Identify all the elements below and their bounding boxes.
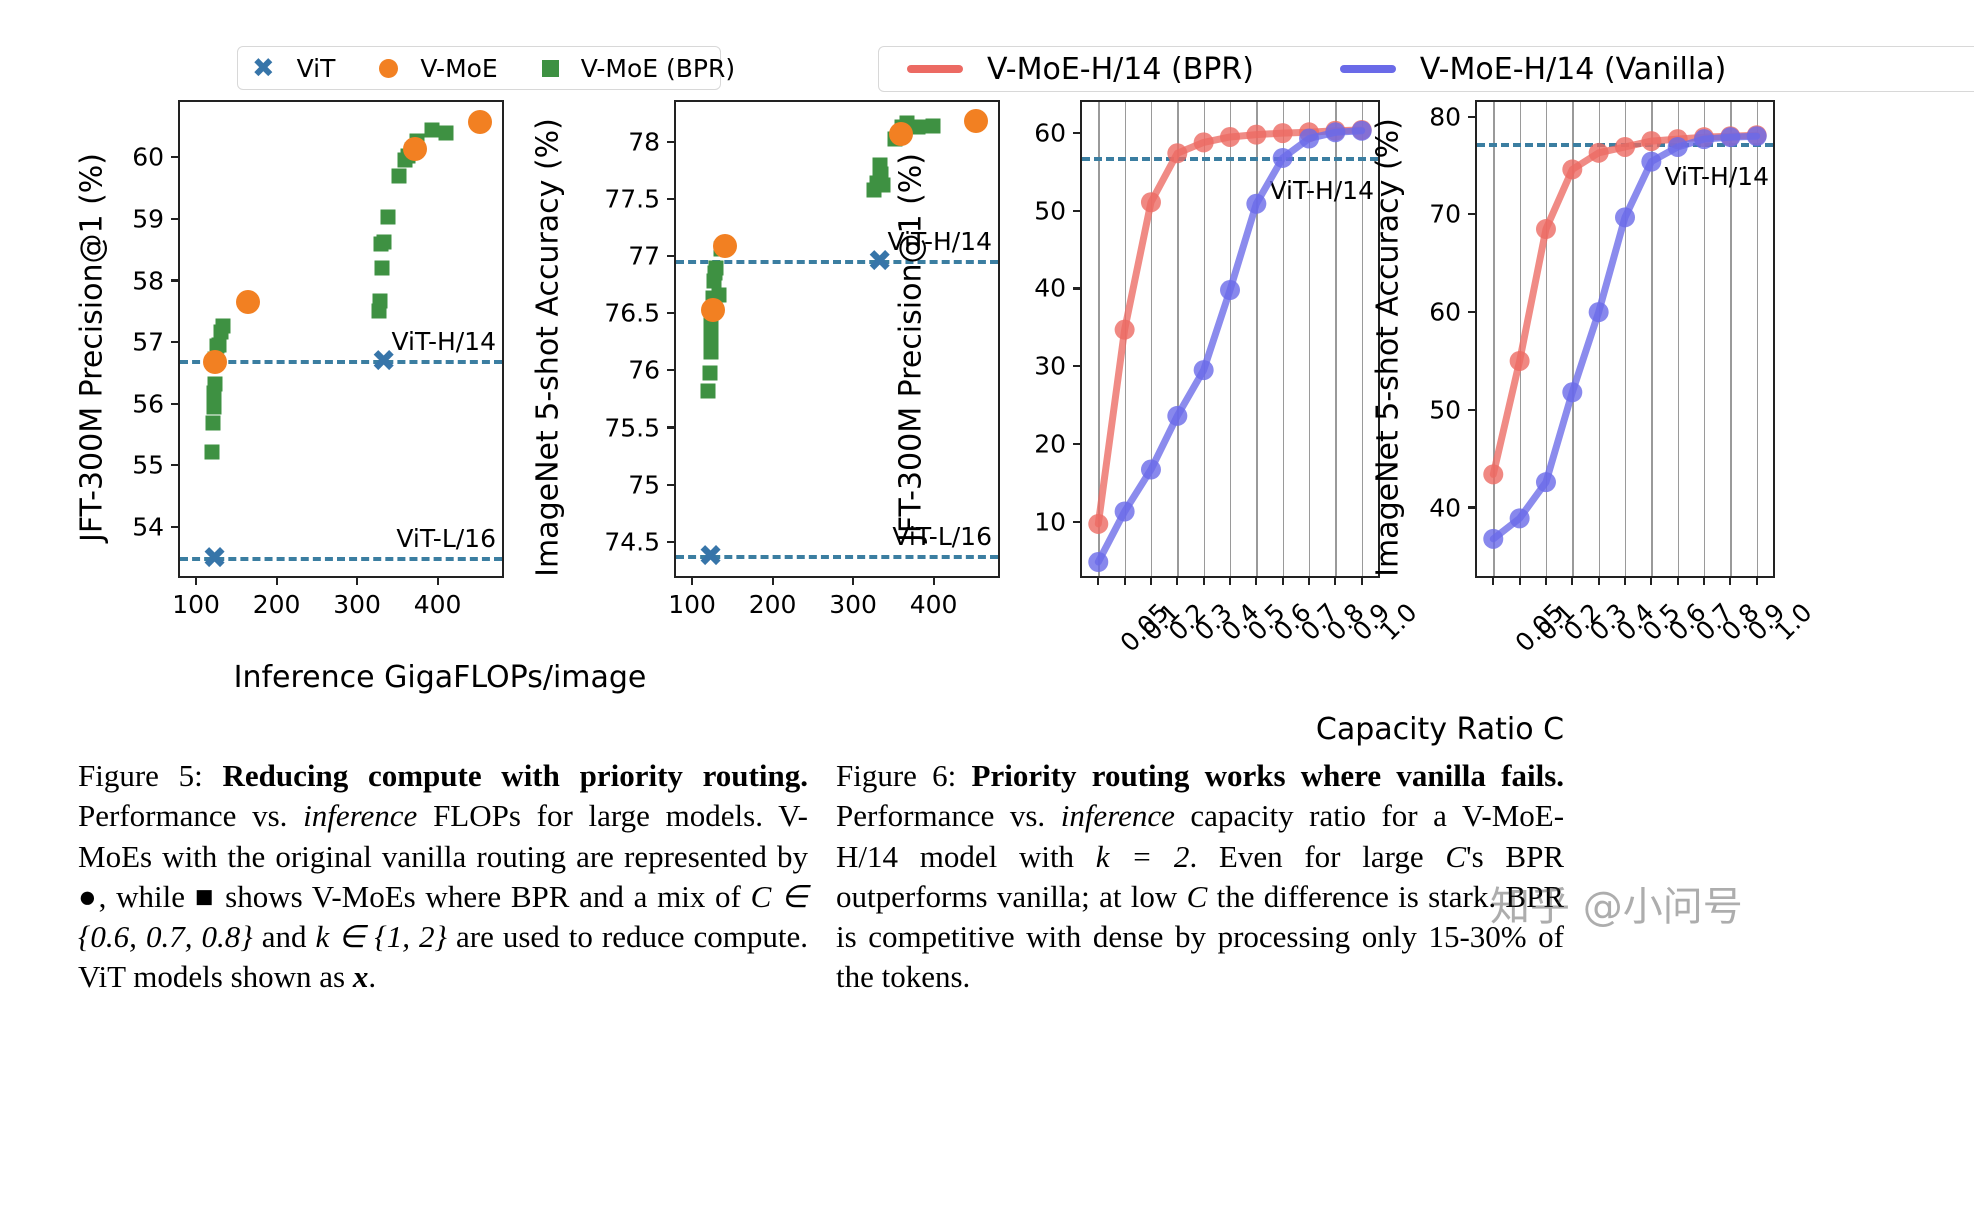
- y-tick-label: 77.5: [604, 185, 660, 214]
- y-tick-label: 50: [1429, 395, 1461, 424]
- y-tick-label: 20: [1034, 429, 1066, 458]
- x-tick-mark: [1150, 576, 1152, 585]
- y-tick-mark: [171, 156, 180, 158]
- x-marker-icon: ✖: [252, 55, 275, 82]
- threshold-label: ViT-L/16: [396, 524, 496, 553]
- y-tick-mark: [1073, 443, 1082, 445]
- figure6-left-ylabel: JFT-300M Precision@1 (%): [894, 133, 929, 563]
- figure5-caption-math3: x: [353, 959, 369, 994]
- y-tick-mark: [667, 255, 676, 257]
- circle-marker-icon: [379, 59, 398, 78]
- y-tick-mark: [1073, 287, 1082, 289]
- y-tick-label: 76.5: [604, 299, 660, 328]
- legend-label-vmoe: V-MoE: [420, 54, 497, 83]
- data-point-circle: [203, 350, 227, 374]
- figure6-caption-math2: C: [1445, 839, 1466, 874]
- y-tick-mark: [1468, 116, 1477, 118]
- y-tick-mark: [1073, 132, 1082, 134]
- y-tick-label: 40: [1429, 493, 1461, 522]
- y-tick-mark: [1073, 365, 1082, 367]
- y-tick-label: 75: [628, 470, 660, 499]
- y-tick-mark: [171, 526, 180, 528]
- data-point-square: [206, 416, 221, 431]
- x-tick-mark: [1598, 576, 1600, 585]
- figure6-right-axes: 40506070800.050.10.20.30.40.50.60.70.80.…: [1475, 100, 1775, 578]
- y-tick-mark: [1073, 521, 1082, 523]
- x-tick-mark: [1545, 576, 1547, 585]
- data-point-square: [206, 399, 221, 414]
- x-tick-label: 200: [749, 590, 797, 619]
- x-tick-mark: [1308, 576, 1310, 585]
- y-tick-mark: [667, 312, 676, 314]
- threshold-line: [180, 360, 502, 364]
- figure6-caption-math1: k = 2: [1096, 839, 1190, 874]
- x-tick-label: 100: [668, 590, 716, 619]
- figure5-legend: ✖ ViT V-MoE V-MoE (BPR): [237, 46, 721, 90]
- x-tick-mark: [1677, 576, 1679, 585]
- x-tick-label: 200: [253, 590, 301, 619]
- y-tick-label: 40: [1034, 274, 1066, 303]
- x-tick-mark: [1756, 576, 1758, 585]
- y-tick-mark: [667, 198, 676, 200]
- figure5-xlabel: Inference GigaFLOPs/image: [90, 660, 790, 695]
- y-tick-mark: [1073, 210, 1082, 212]
- y-tick-mark: [667, 369, 676, 371]
- x-tick-mark: [1229, 576, 1231, 585]
- line-chart-curves: [1477, 102, 1773, 576]
- x-tick-mark: [437, 576, 439, 585]
- data-point-circle: [701, 298, 725, 322]
- figure6-caption: Figure 6: Priority routing works where v…: [836, 756, 1564, 998]
- legend-label-vit: ViT: [297, 54, 336, 83]
- y-tick-label: 60: [132, 143, 164, 172]
- figure-page: ✖ ViT V-MoE V-MoE (BPR) JFT-300M Precisi…: [0, 0, 1974, 1218]
- x-tick-mark: [1282, 576, 1284, 585]
- y-tick-label: 80: [1429, 102, 1461, 131]
- y-tick-label: 74.5: [604, 527, 660, 556]
- square-marker-icon: [542, 60, 559, 77]
- threshold-line: [180, 557, 502, 561]
- figure5-left-ylabel: JFT-300M Precision@1 (%): [75, 138, 110, 558]
- y-tick-mark: [1468, 213, 1477, 215]
- figure5-caption: Figure 5: Reducing compute with priority…: [78, 756, 808, 998]
- data-point-square: [377, 234, 392, 249]
- x-tick-mark: [1097, 576, 1099, 585]
- legend-entry-bpr: V-MoE-H/14 (BPR): [907, 52, 1254, 87]
- data-point-circle: [713, 234, 737, 258]
- watermark: 知乎 @小问号: [1490, 874, 1743, 932]
- legend-entry-vanilla: V-MoE-H/14 (Vanilla): [1340, 52, 1726, 87]
- y-tick-label: 76: [628, 356, 660, 385]
- y-tick-label: 58: [132, 266, 164, 295]
- x-tick-label: 100: [172, 590, 220, 619]
- data-point-square: [372, 294, 387, 309]
- figure6-right-ylabel: ImageNet 5-shot Accuracy (%): [1371, 88, 1406, 608]
- x-tick-mark: [1176, 576, 1178, 585]
- y-tick-label: 77: [628, 242, 660, 271]
- figure-5: ✖ ViT V-MoE V-MoE (BPR) JFT-300M Precisi…: [0, 0, 830, 800]
- data-point-square: [701, 383, 716, 398]
- data-point-square: [216, 319, 231, 334]
- y-tick-label: 70: [1429, 200, 1461, 229]
- figure6-caption-italic1: inference: [1061, 798, 1175, 833]
- data-point-square: [438, 125, 453, 140]
- x-tick-mark: [691, 576, 693, 585]
- data-point-square: [207, 376, 222, 391]
- figure6-caption-rest1: Performance vs.: [836, 798, 1045, 833]
- y-tick-mark: [171, 403, 180, 405]
- data-point-square: [704, 345, 719, 360]
- y-tick-label: 50: [1034, 196, 1066, 225]
- data-point-square: [380, 210, 395, 225]
- figure6-legend: V-MoE-H/14 (BPR) V-MoE-H/14 (Vanilla): [878, 46, 1974, 92]
- x-tick-mark: [1729, 576, 1731, 585]
- figure6-caption-bold: Priority routing works where vanilla fai…: [972, 758, 1565, 793]
- y-tick-label: 56: [132, 389, 164, 418]
- x-tick-mark: [1255, 576, 1257, 585]
- line-chart-curves: [1082, 102, 1378, 576]
- legend-label-bpr: V-MoE-H/14 (BPR): [987, 52, 1254, 87]
- line-marker-bpr-icon: [907, 65, 963, 73]
- x-tick-mark: [1624, 576, 1626, 585]
- x-tick-label: 400: [414, 590, 462, 619]
- figure6-caption-prefix: Figure 6:: [836, 758, 956, 793]
- data-point-square: [702, 365, 717, 380]
- figure5-left-axes: 54555657585960100200300400ViT-H/14ViT-L/…: [178, 100, 504, 578]
- figure5-caption-end: .: [368, 959, 376, 994]
- x-tick-mark: [356, 576, 358, 585]
- figure5-caption-bold: Reducing compute with priority routing.: [222, 758, 808, 793]
- data-point-square: [709, 260, 724, 275]
- data-point-circle: [236, 290, 260, 314]
- x-tick-mark: [1492, 576, 1494, 585]
- figure6-caption-rest3: . Even for large: [1189, 839, 1423, 874]
- legend-label-vanilla: V-MoE-H/14 (Vanilla): [1420, 52, 1726, 87]
- y-tick-mark: [171, 279, 180, 281]
- y-tick-mark: [667, 484, 676, 486]
- x-tick-mark: [772, 576, 774, 585]
- figure-6: V-MoE-H/14 (BPR) V-MoE-H/14 (Vanilla) JF…: [830, 0, 1974, 1000]
- figure5-caption-rest1: Performance vs.: [78, 798, 287, 833]
- x-tick-mark: [1571, 576, 1573, 585]
- figure5-caption-prefix: Figure 5:: [78, 758, 203, 793]
- x-tick-mark: [276, 576, 278, 585]
- data-point-circle: [468, 110, 492, 134]
- x-tick-mark: [1334, 576, 1336, 585]
- y-tick-label: 60: [1429, 298, 1461, 327]
- y-tick-label: 57: [132, 328, 164, 357]
- y-tick-mark: [667, 541, 676, 543]
- y-tick-label: 75.5: [604, 413, 660, 442]
- data-point-circle: [403, 137, 427, 161]
- line-marker-vanilla-icon: [1340, 65, 1396, 73]
- data-point-square: [205, 444, 220, 459]
- x-tick-mark: [195, 576, 197, 585]
- y-tick-mark: [667, 141, 676, 143]
- x-tick-label: 300: [333, 590, 381, 619]
- x-tick-mark: [1124, 576, 1126, 585]
- y-tick-mark: [667, 426, 676, 428]
- y-tick-mark: [171, 218, 180, 220]
- y-tick-mark: [1468, 506, 1477, 508]
- x-tick-mark: [1650, 576, 1652, 585]
- y-tick-label: 55: [132, 451, 164, 480]
- data-point-square: [375, 261, 390, 276]
- x-tick-mark: [1703, 576, 1705, 585]
- figure6-caption-math3: C: [1187, 879, 1208, 914]
- y-tick-mark: [1468, 311, 1477, 313]
- y-tick-label: 30: [1034, 352, 1066, 381]
- legend-entry-vit: ✖ ViT: [252, 54, 335, 83]
- figure5-caption-italic1: inference: [303, 798, 417, 833]
- y-tick-label: 78: [628, 127, 660, 156]
- figure6-left-axes: 1020304050600.050.10.20.30.40.50.60.70.8…: [1080, 100, 1380, 578]
- figure5-caption-math2: k ∈ {1, 2}: [316, 919, 447, 954]
- y-tick-label: 10: [1034, 507, 1066, 536]
- data-point-square: [391, 168, 406, 183]
- threshold-label: ViT-H/14: [391, 327, 496, 356]
- y-tick-label: 59: [132, 204, 164, 233]
- figure6-xlabel: Capacity Ratio C: [1100, 712, 1780, 747]
- y-tick-label: 54: [132, 512, 164, 541]
- x-tick-mark: [1203, 576, 1205, 585]
- y-tick-mark: [171, 464, 180, 466]
- legend-label-vmoe-bpr: V-MoE (BPR): [581, 54, 735, 83]
- x-tick-mark: [1519, 576, 1521, 585]
- legend-entry-vmoe-bpr: V-MoE (BPR): [542, 54, 735, 83]
- figure5-right-ylabel: ImageNet 5-shot Accuracy (%): [531, 88, 566, 608]
- x-tick-mark: [1361, 576, 1363, 585]
- figure5-caption-and: and: [262, 919, 307, 954]
- y-tick-mark: [171, 341, 180, 343]
- y-tick-label: 60: [1034, 119, 1066, 148]
- legend-entry-vmoe: V-MoE: [379, 54, 497, 83]
- y-tick-mark: [1468, 409, 1477, 411]
